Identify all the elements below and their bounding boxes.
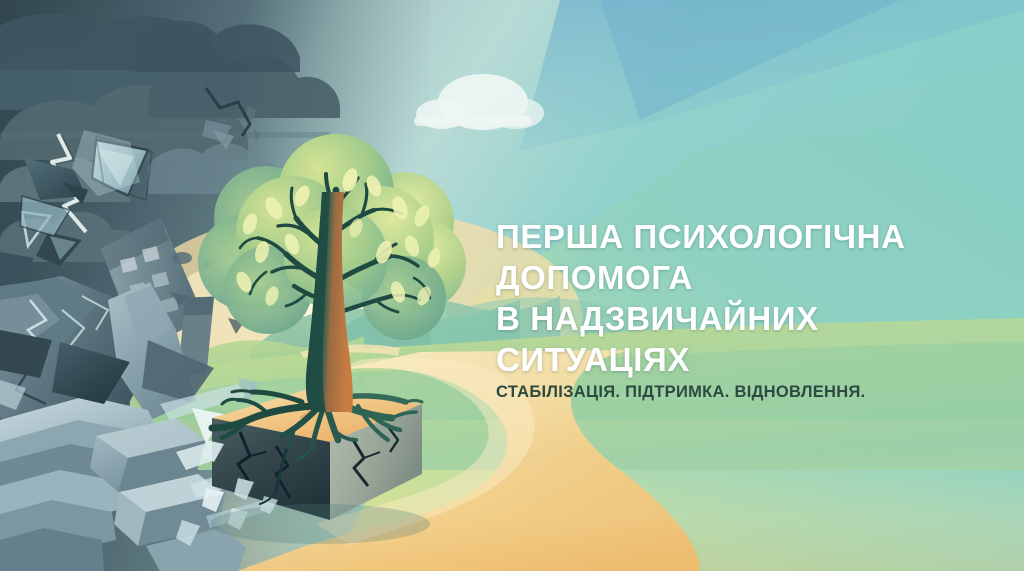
subtitle: СТАБІЛІЗАЦІЯ. ПІДТРИМКА. ВІДНОВЛЕННЯ. xyxy=(496,383,866,402)
poster-canvas: ПЕРША ПСИХОЛОГІЧНА ДОПОМОГА В НАДЗВИЧАЙН… xyxy=(0,0,1024,571)
headline-line-1: ПЕРША ПСИХОЛОГІЧНА xyxy=(496,216,966,257)
headline-line-2: ДОПОМОГА xyxy=(496,257,966,298)
headline-block: ПЕРША ПСИХОЛОГІЧНА ДОПОМОГА В НАДЗВИЧАЙН… xyxy=(496,216,966,380)
headline-line-3: В НАДЗВИЧАЙНИХ xyxy=(496,298,966,339)
headline-line-4: СИТУАЦІЯХ xyxy=(496,339,966,380)
